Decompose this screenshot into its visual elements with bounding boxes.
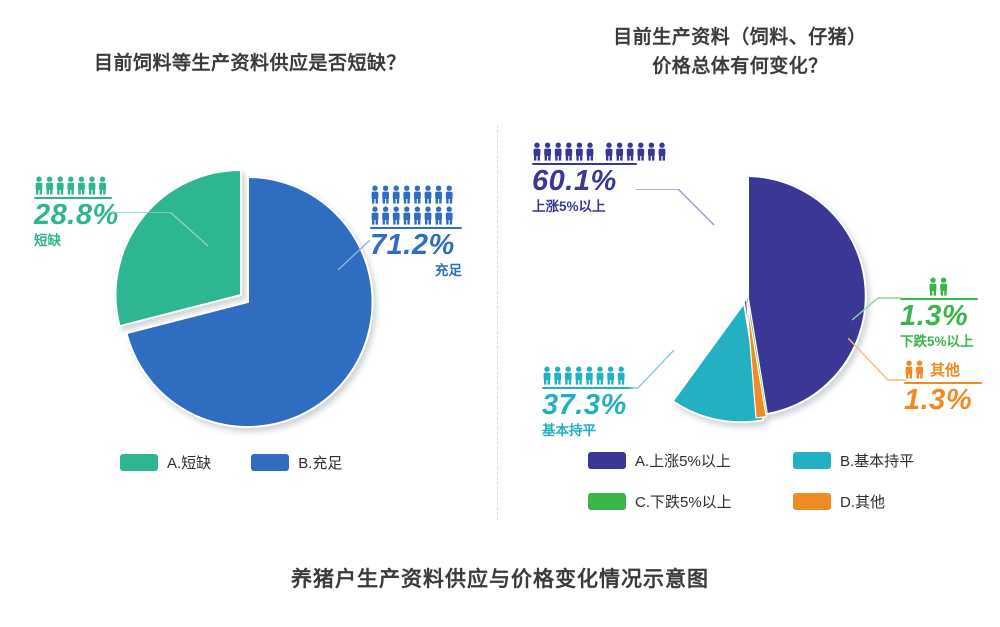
callout-percent: 71.2% xyxy=(370,229,530,262)
legend-swatch xyxy=(251,454,289,471)
person-icon xyxy=(370,185,458,204)
legend-label: D.其他 xyxy=(840,491,885,512)
person-icon-group-xiadie xyxy=(900,277,978,296)
legend-swatch xyxy=(588,452,626,469)
leader-line-qita xyxy=(848,338,908,384)
infographic-canvas: 目前饲料等生产资料供应是否短缺？ 目前生产资料（饲料、仔猪） 价格总体有何变化？ xyxy=(0,0,1000,627)
callout-icon-label-row: 其他 xyxy=(904,360,1000,381)
callout-sublabel: 下跌5%以上 xyxy=(900,333,1000,351)
person-icon xyxy=(604,142,672,161)
person-icon-group-chongzu xyxy=(370,185,530,225)
person-icon xyxy=(928,277,951,296)
callout-sublabel: 基本持平 xyxy=(542,422,702,440)
legend-item-c-xiadie[interactable]: C.下跌5%以上 xyxy=(588,491,793,512)
callout-percent: 1.3% xyxy=(904,384,1000,417)
person-icon-group-chiping xyxy=(542,366,702,385)
leader-line-xiadie xyxy=(852,296,904,322)
left-callout-chongzu: 71.2% 充足 xyxy=(370,185,530,280)
legend-label: B.基本持平 xyxy=(840,450,914,471)
person-icon xyxy=(542,366,630,385)
right-chart-question-title: 目前生产资料（饲料、仔猪） 价格总体有何变化？ xyxy=(520,24,960,81)
person-icon-group-duanque xyxy=(34,176,184,195)
person-icon xyxy=(34,176,110,195)
right-chart-legend: A.上涨5%以上 B.基本持平 C.下跌5%以上 D.其他 xyxy=(588,450,968,512)
legend-swatch xyxy=(793,452,831,469)
callout-sublabel: 充足 xyxy=(370,262,462,280)
legend-item-d-qita[interactable]: D.其他 xyxy=(793,491,968,512)
legend-label: C.下跌5%以上 xyxy=(635,491,732,512)
right-callout-qita: 其他 1.3% xyxy=(904,360,1000,417)
person-icon xyxy=(532,142,600,161)
legend-swatch xyxy=(793,493,831,510)
legend-label: B.充足 xyxy=(298,452,342,473)
legend-swatch xyxy=(120,454,158,471)
callout-sublabel: 其他 xyxy=(930,361,960,381)
leader-line-shangzhang xyxy=(636,189,718,231)
leader-line-duanque xyxy=(108,212,218,262)
legend-swatch xyxy=(588,493,626,510)
leader-line-chongzu xyxy=(338,240,378,272)
callout-percent: 37.3% xyxy=(542,389,702,422)
person-icon xyxy=(370,206,458,225)
right-callout-xiadie: 1.3% 下跌5%以上 xyxy=(900,277,1000,351)
infographic-caption: 养猪户生产资料供应与价格变化情况示意图 xyxy=(0,563,1000,593)
callout-percent: 1.3% xyxy=(900,300,1000,333)
legend-item-b-chongzu[interactable]: B.充足 xyxy=(251,452,342,473)
legend-item-a-duanque[interactable]: A.短缺 xyxy=(120,452,211,473)
right-callout-chiping: 37.3% 基本持平 xyxy=(542,366,702,440)
leader-line-chiping xyxy=(630,350,676,390)
legend-label: A.短缺 xyxy=(167,452,211,473)
person-icon-group-shangzhang xyxy=(532,140,702,161)
legend-label: A.上涨5%以上 xyxy=(635,450,731,471)
left-chart-question-title: 目前饲料等生产资料供应是否短缺？ xyxy=(40,50,460,79)
legend-item-a-shangzhang[interactable]: A.上涨5%以上 xyxy=(588,450,793,471)
left-chart-legend: A.短缺 B.充足 xyxy=(120,452,420,473)
legend-item-b-chiping[interactable]: B.基本持平 xyxy=(793,450,968,471)
